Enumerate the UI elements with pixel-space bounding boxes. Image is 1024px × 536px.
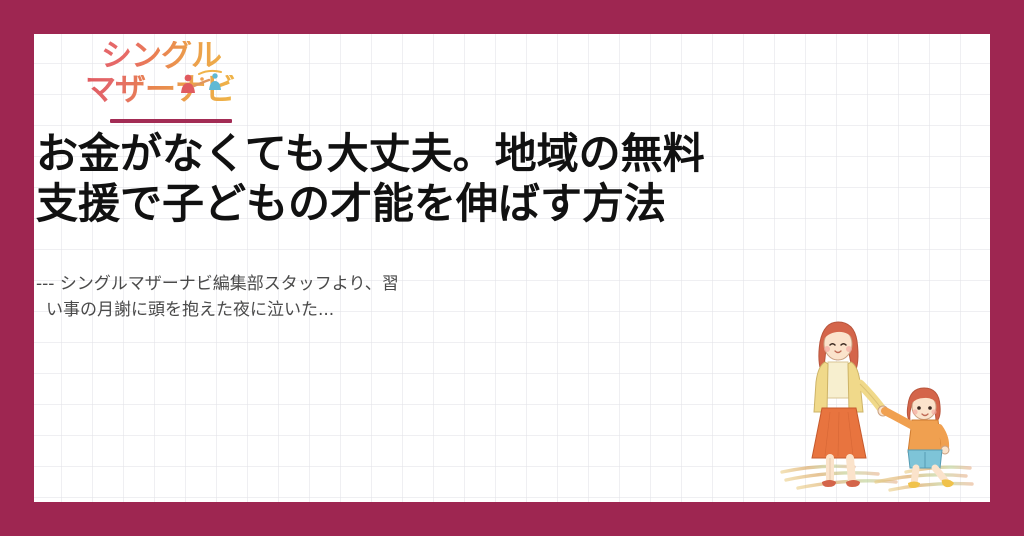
article-headline: お金がなくても大丈夫。地域の無料支援で子どもの才能を伸ばす方法 — [36, 129, 716, 229]
logo-text-line-2: マザーナビ — [85, 75, 235, 106]
logo-underline-rule — [110, 119, 232, 123]
site-logo[interactable]: シングル マザーナビ — [71, 39, 271, 131]
article-description: --- シングルマザーナビ編集部スタッフより、習 い事の月謝に頭を抱えた夜に泣い… — [36, 272, 536, 324]
logo-text-line-1: シングル — [101, 41, 221, 72]
mother-and-child-drawing-icon — [780, 312, 980, 502]
ogp-card: シングル マザーナビ お金がなくても大丈夫。地域の無料支援で子どもの才能を伸ばす… — [0, 0, 1024, 536]
card-paper: シングル マザーナビ お金がなくても大丈夫。地域の無料支援で子どもの才能を伸ばす… — [34, 34, 990, 502]
description-line-1: --- シングルマザーナビ編集部スタッフより、習 — [36, 274, 399, 294]
description-line-2: い事の月謝に頭を抱えた夜に泣いた... — [36, 298, 536, 324]
mother-and-child-illustration — [780, 312, 980, 502]
